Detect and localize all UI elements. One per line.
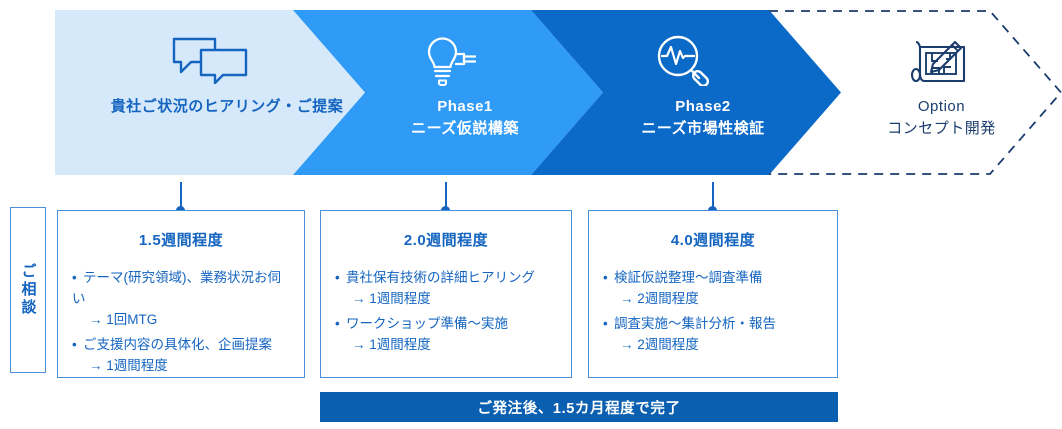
flow-step-phase2-line1: Phase2 <box>641 96 764 118</box>
detail-card-1-list: •テーマ(研究領域)、業務状況お伺い → 1回MTG •ご支援内容の具体化、企画… <box>58 268 304 377</box>
consult-label-box: ご相談 <box>10 207 46 373</box>
list-item: •貴社保有技術の詳細ヒアリング → 1週間程度 <box>335 268 561 310</box>
list-item: •ワークショップ準備〜実施 → 1週間程度 <box>335 314 561 356</box>
list-item-main: 検証仮説整理〜調査準備 <box>614 270 763 285</box>
flow-step-phase2-labels: Phase2 ニーズ市場性検証 <box>641 96 764 140</box>
detail-card-2-list: •貴社保有技術の詳細ヒアリング → 1週間程度 •ワークショップ準備〜実施 → … <box>321 268 571 356</box>
bullet-icon: • <box>335 314 346 335</box>
detail-card-2: 2.0週間程度 •貴社保有技術の詳細ヒアリング → 1週間程度 •ワークショップ… <box>320 210 572 378</box>
flow-step-hearing-labels: 貴社ご状況のヒアリング・ご提案 <box>111 96 344 118</box>
list-item: •調査実施〜集計分析・報告 → 2週間程度 <box>603 314 827 356</box>
magnifier-pulse-icon <box>653 34 719 86</box>
list-item-main: ご支援内容の具体化、企画提案 <box>83 337 272 352</box>
list-item-main: ワークショップ準備〜実施 <box>346 316 508 331</box>
list-item-main: テーマ(研究領域)、業務状況お伺い <box>72 270 281 306</box>
flow-step-phase1-labels: Phase1 ニーズ仮説構築 <box>411 96 519 140</box>
detail-card-1: 1.5週間程度 •テーマ(研究領域)、業務状況お伺い → 1回MTG •ご支援内… <box>57 210 305 378</box>
flow-step-hearing-line1: 貴社ご状況のヒアリング・ご提案 <box>111 96 344 118</box>
flow-step-phase2-line2: ニーズ市場性検証 <box>641 118 764 140</box>
flow-step-option-labels: Option コンセプト開発 <box>887 96 996 140</box>
bullet-icon: • <box>335 268 346 289</box>
completion-banner: ご発注後、1.5カ月程度で完了 <box>320 392 838 422</box>
bullet-icon: • <box>603 314 614 335</box>
process-timeline-diagram: 貴社ご状況のヒアリング・ご提案 Phase1 ニーズ仮説構築 <box>0 0 1062 429</box>
detail-card-2-title: 2.0週間程度 <box>321 229 571 250</box>
list-item-sub: → 1週間程度 <box>72 356 294 377</box>
flow-step-phase1-line2: ニーズ仮説構築 <box>411 118 519 140</box>
speech-bubbles-icon <box>171 34 249 86</box>
list-item-main: 調査実施〜集計分析・報告 <box>614 316 776 331</box>
list-item-sub: → 1回MTG <box>72 310 294 331</box>
list-item: •検証仮説整理〜調査準備 → 2週間程度 <box>603 268 827 310</box>
detail-card-3-title: 4.0週間程度 <box>589 229 837 250</box>
flow-step-option-line2: コンセプト開発 <box>887 118 996 140</box>
list-item-sub: → 2週間程度 <box>603 289 827 310</box>
bullet-icon: • <box>72 268 83 289</box>
flow-step-option-line1: Option <box>887 96 996 118</box>
list-item-sub: → 2週間程度 <box>603 335 827 356</box>
lightbulb-plug-icon <box>411 34 485 86</box>
list-item-main: 貴社保有技術の詳細ヒアリング <box>346 270 535 285</box>
bullet-icon: • <box>72 335 83 356</box>
blueprint-pencil-icon <box>910 34 974 86</box>
list-item-sub: → 1週間程度 <box>335 335 561 356</box>
list-item: •ご支援内容の具体化、企画提案 → 1週間程度 <box>72 335 294 377</box>
flow-step-phase1-line1: Phase1 <box>411 96 519 118</box>
list-item-sub: → 1週間程度 <box>335 289 561 310</box>
detail-card-1-title: 1.5週間程度 <box>58 229 304 250</box>
flow-step-option[interactable]: Option コンセプト開発 <box>769 10 1062 175</box>
detail-card-3: 4.0週間程度 •検証仮説整理〜調査準備 → 2週間程度 •調査実施〜集計分析・… <box>588 210 838 378</box>
list-item: •テーマ(研究領域)、業務状況お伺い → 1回MTG <box>72 268 294 331</box>
detail-card-3-list: •検証仮説整理〜調査準備 → 2週間程度 •調査実施〜集計分析・報告 → 2週間… <box>589 268 837 356</box>
bullet-icon: • <box>603 268 614 289</box>
